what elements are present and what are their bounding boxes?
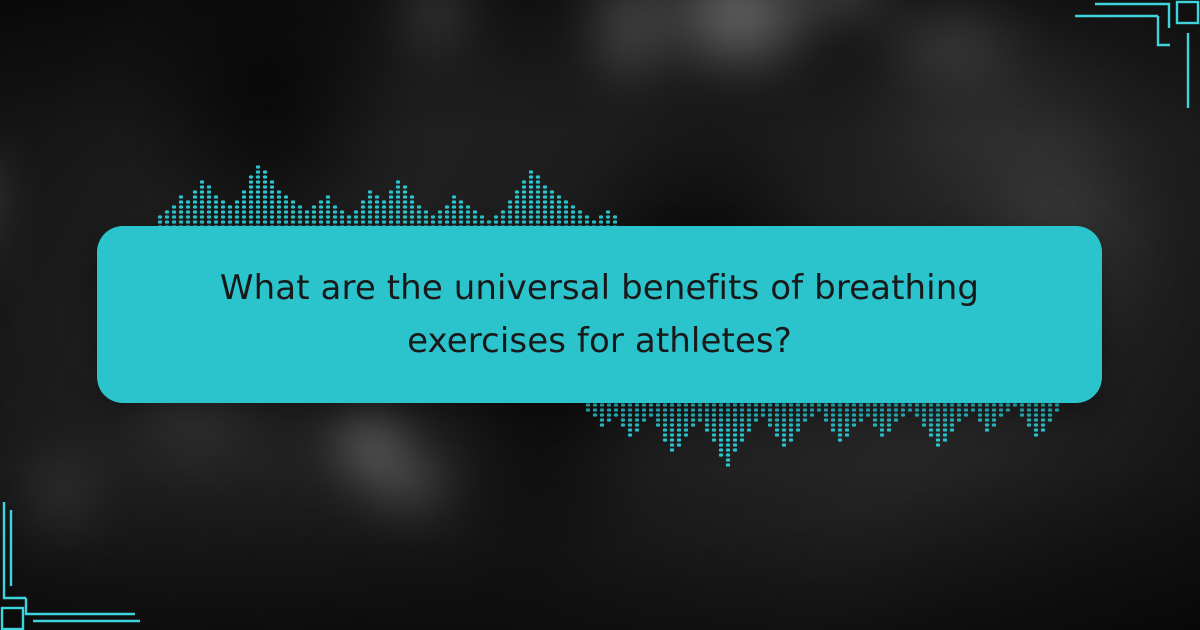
quote-text: What are the universal benefits of breat…	[167, 262, 1032, 367]
social-quote-card: What are the universal benefits of breat…	[0, 0, 1200, 630]
quote-card: What are the universal benefits of breat…	[97, 226, 1102, 403]
